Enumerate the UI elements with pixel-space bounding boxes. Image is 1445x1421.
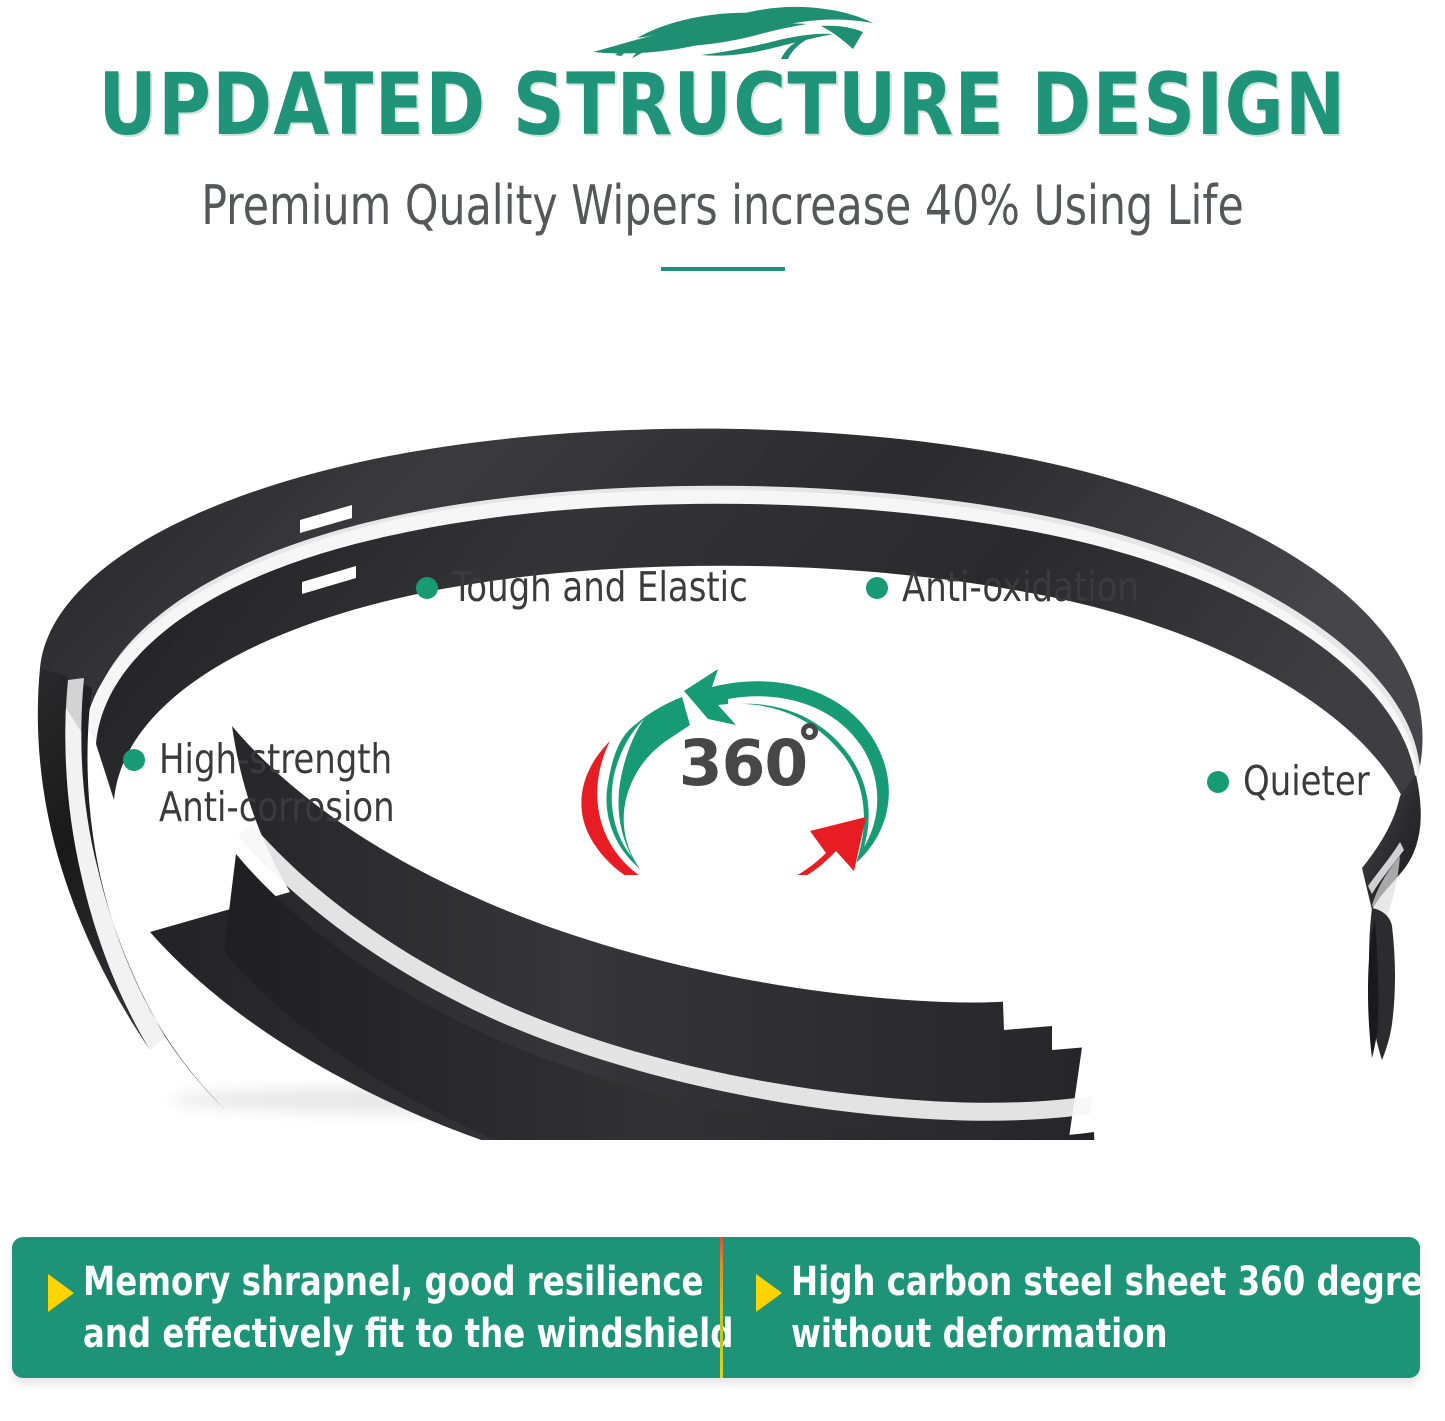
banner-panel-high-carbon-steel: High carbon steel sheet 360 degrees with…: [720, 1237, 1420, 1378]
page-subtitle: Premium Quality Wipers increase 40% Usin…: [87, 175, 1359, 237]
triangle-arrow-icon: [756, 1274, 782, 1312]
banner-line1: Memory shrapnel, good resilience: [83, 1256, 733, 1308]
bullet-dot-icon: [1207, 771, 1229, 793]
callout-label-line2: Anti-corrosion: [159, 783, 395, 831]
feature-banner: Memory shrapnel, good resilience and eff…: [12, 1237, 1420, 1378]
banner-line2: without deformation: [791, 1308, 1445, 1360]
callout-label: Tough and Elastic: [452, 563, 748, 611]
bullet-dot-icon: [866, 577, 888, 599]
callout-quieter: Quieter: [1207, 757, 1381, 805]
banner-line1: High carbon steel sheet 360 degrees: [791, 1256, 1445, 1308]
360-rotation-arrows-icon: [570, 655, 920, 875]
banner-panel-memory-shrapnel: Memory shrapnel, good resilience and eff…: [12, 1237, 720, 1378]
callout-tough-and-elastic: Tough and Elastic: [416, 563, 774, 611]
degree-symbol-icon: [801, 723, 818, 740]
banner-text-group: Memory shrapnel, good resilience and eff…: [83, 1256, 806, 1360]
infographic-page: UPDATED STRUCTURE DESIGN Premium Quality…: [0, 0, 1445, 1421]
page-title: UPDATED STRUCTURE DESIGN: [51, 58, 1395, 152]
bullet-dot-icon: [123, 749, 145, 771]
bullet-dot-icon: [416, 577, 438, 599]
callout-label-line1: High-strength: [159, 735, 395, 783]
callout-anti-oxidation: Anti-oxidation: [866, 563, 1159, 611]
triangle-arrow-icon: [48, 1274, 74, 1312]
callout-high-strength-anti-corrosion: High-strength Anti-corrosion: [123, 735, 415, 831]
callout-label: Anti-oxidation: [902, 563, 1139, 611]
callout-label-group: High-strength Anti-corrosion: [159, 735, 395, 831]
callout-label: Quieter: [1243, 757, 1370, 805]
360-degree-badge: 360: [570, 655, 920, 875]
banner-line2: and effectively fit to the windshield: [83, 1308, 733, 1360]
title-underline-rule: [661, 267, 785, 271]
banner-text-group: High carbon steel sheet 360 degrees with…: [791, 1256, 1445, 1360]
